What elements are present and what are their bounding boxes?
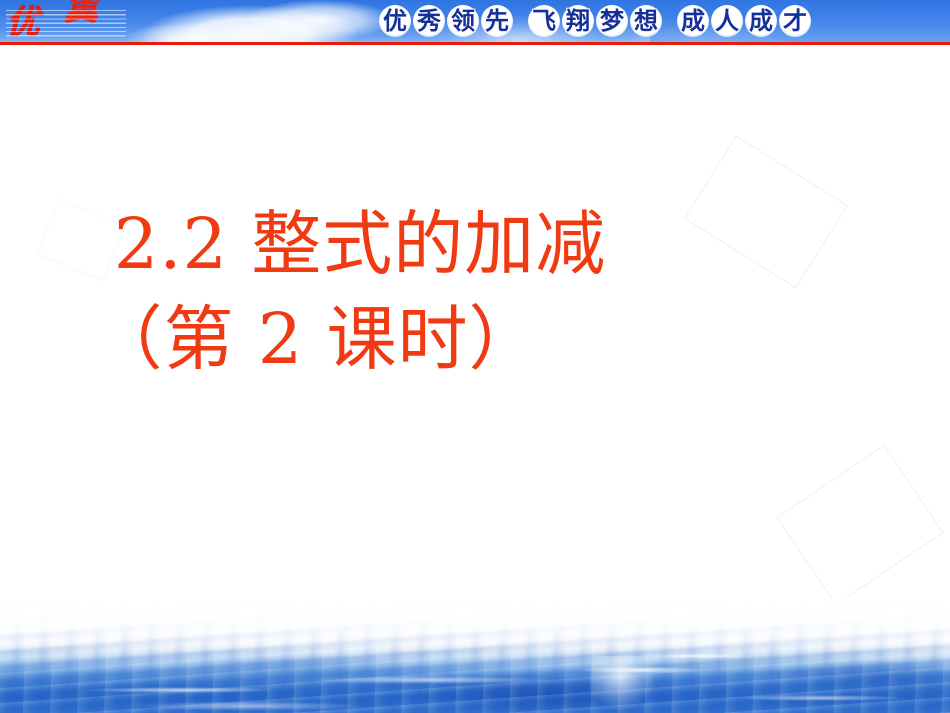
- slide-title: 2.2 整式的加减: [0, 196, 950, 292]
- slogan-char: 先: [480, 4, 514, 38]
- slogan-group-3: 成 人 成 才: [676, 4, 812, 38]
- slogan-char: 飞: [527, 4, 561, 38]
- logo-main-text: 优: [6, 5, 38, 38]
- slide-subtitle: （第 2 课时）: [0, 292, 950, 386]
- slogan-char: 想: [629, 4, 663, 38]
- title-block: 2.2 整式的加减 （第 2 课时）: [0, 196, 950, 386]
- slogan-char-label: 想: [634, 9, 658, 33]
- slogan-group-2: 飞 翔 梦 想: [527, 4, 663, 38]
- slogan-char: 优: [378, 4, 412, 38]
- ocean-water: [0, 598, 950, 713]
- slogan-char: 领: [446, 4, 480, 38]
- slogan-char-label: 飞: [532, 9, 556, 33]
- slogan-char: 人: [710, 4, 744, 38]
- slogan-char-label: 秀: [417, 9, 441, 33]
- presentation-slide: 优 翼 优 秀 领 先 飞 翔 梦 想 成 人 成 才: [0, 0, 950, 713]
- slide-header-banner: 优 翼 优 秀 领 先 飞 翔 梦 想 成 人 成 才: [0, 0, 950, 42]
- slogan-char-label: 梦: [600, 9, 624, 33]
- slogan-char: 才: [778, 4, 812, 38]
- slogan-char: 成: [676, 4, 710, 38]
- slogan-char: 成: [744, 4, 778, 38]
- slogan-char-label: 优: [383, 9, 407, 33]
- ocean-footer-image: [0, 598, 950, 713]
- slogan-char-label: 先: [485, 9, 509, 33]
- slogan-char-label: 成: [749, 9, 773, 33]
- slogan-char-label: 领: [451, 9, 475, 33]
- youyi-logo: 优 翼: [4, 0, 164, 42]
- slogan-char: 秀: [412, 4, 446, 38]
- slogan-char-label: 翔: [566, 9, 590, 33]
- slogan-group-1: 优 秀 领 先: [378, 4, 514, 38]
- slogan-char-label: 人: [715, 9, 739, 33]
- header-divider-rule: [0, 42, 950, 45]
- header-slogan: 优 秀 领 先 飞 翔 梦 想 成 人 成 才: [378, 0, 812, 42]
- slogan-char-label: 才: [783, 9, 807, 33]
- slogan-char-label: 成: [681, 9, 705, 33]
- slogan-char: 翔: [561, 4, 595, 38]
- logo-accent-text: 翼: [64, 0, 98, 26]
- slogan-char: 梦: [595, 4, 629, 38]
